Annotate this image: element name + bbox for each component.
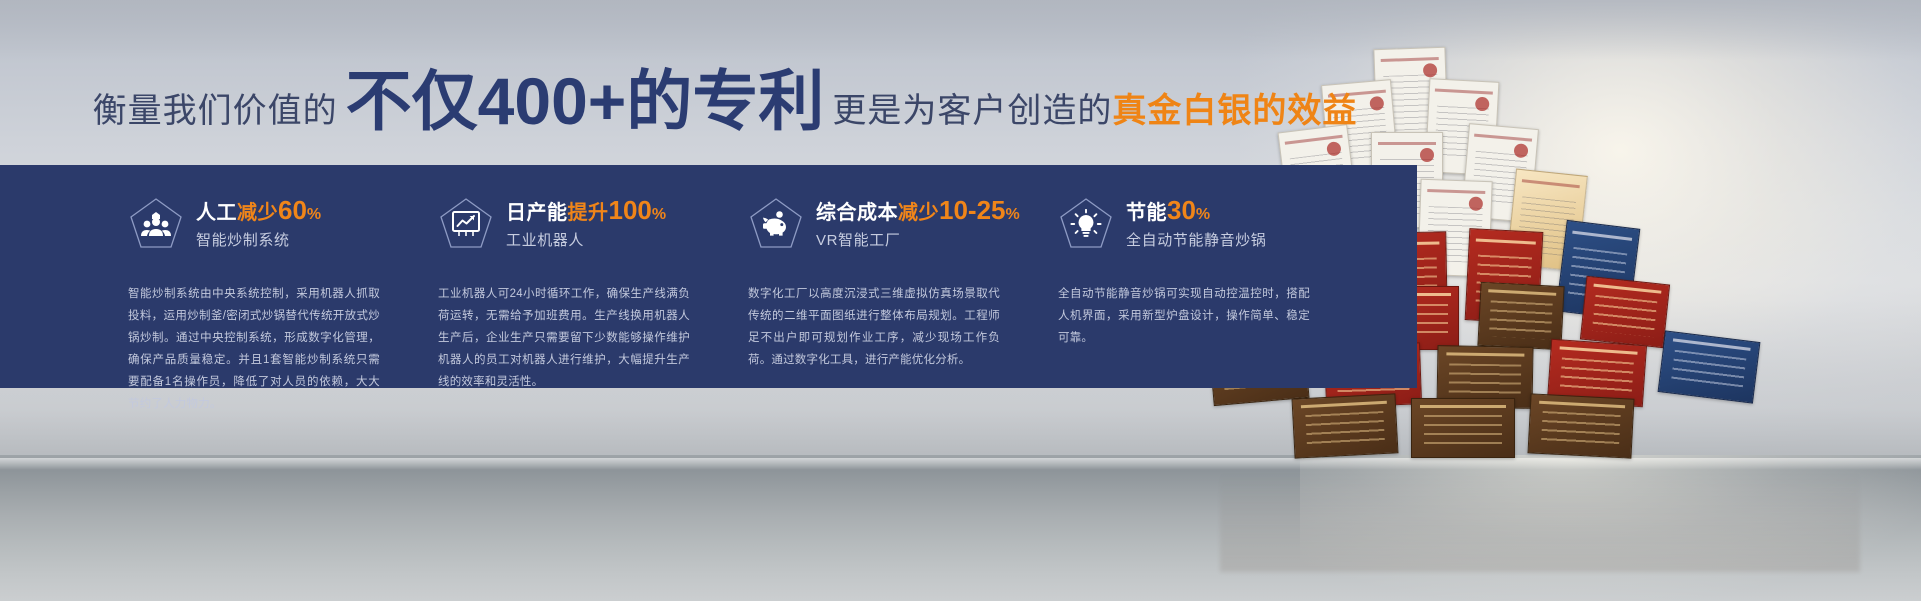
feature-title: 综合成本减少10-25% [816, 196, 1020, 225]
certificate-item [1580, 276, 1670, 348]
feature-title-highlight: 提升 [568, 202, 609, 224]
feature-title-highlight: 减少 [898, 202, 939, 224]
seal-icon [1468, 196, 1482, 210]
feature-title: 日产能提升100% [506, 196, 666, 225]
feature-body-text: 数字化工厂以高度沉浸式三维虚拟仿真场景取代传统的二维平面图纸进行整体布局规划。工… [748, 283, 1000, 371]
certificate-item [1292, 393, 1399, 458]
feature-title-number: 60 [278, 195, 307, 225]
feature-title-number: 100 [609, 195, 652, 225]
seal-icon [1420, 148, 1434, 162]
feature-title-label: 日产能 [506, 202, 568, 224]
certificate-item [1658, 330, 1761, 403]
seal-icon [1513, 143, 1528, 158]
headline-lead: 衡量我们价值的 [93, 94, 338, 128]
feature-title-percent: % [1196, 206, 1210, 223]
headline-emphasis: 不仅400+的专利 [338, 68, 833, 134]
feature-title-label: 人工 [196, 202, 237, 224]
feature-subtitle: VR智能工厂 [816, 229, 1020, 250]
feature-title-number: 30 [1167, 195, 1196, 225]
feature-title-percent: % [1006, 206, 1020, 223]
certificates-reflection [1220, 452, 1860, 572]
page-headline: 衡量我们价值的 不仅400+的专利 更是为客户创造的 真金白银的效益 [0, 68, 1450, 144]
chart-board-icon [438, 196, 494, 252]
headline-middle: 更是为客户创造的 [832, 94, 1112, 128]
people-group-icon [128, 196, 184, 252]
feature-body-text: 智能炒制系统由中央系统控制，采用机器人抓取投料，运用炒制釜/密闭式炒锅替代传统开… [128, 283, 380, 415]
feature-subtitle: 工业机器人 [506, 229, 666, 250]
piggy-bank-icon [748, 196, 804, 252]
feature-subtitle: 全自动节能静音炒锅 [1126, 229, 1266, 250]
features-panel: 人工减少60% 智能炒制系统 智能炒制系统由中央系统控制，采用机器人抓取投料，运… [0, 165, 1417, 388]
headline-highlight: 真金白银的效益 [1112, 94, 1357, 128]
feature-title-highlight: 减少 [237, 202, 278, 224]
feature-title-percent: % [652, 206, 666, 223]
certificate-item [1411, 398, 1515, 458]
feature-card-capacity: 日产能提升100% 工业机器人 工业机器人可24小时循环工作，确保生产线满负荷运… [438, 165, 748, 388]
feature-title-percent: % [307, 206, 321, 223]
lightbulb-icon [1058, 196, 1114, 252]
feature-title: 节能30% [1126, 196, 1266, 225]
feature-title: 人工减少60% [196, 196, 321, 225]
feature-card-cost: 综合成本减少10-25% VR智能工厂 数字化工厂以高度沉浸式三维虚拟仿真场景取… [748, 165, 1058, 388]
feature-title-label: 综合成本 [816, 202, 898, 224]
feature-body-text: 全自动节能静音炒锅可实现自动控温控时，搭配人机界面，采用新型炉盘设计，操作简单、… [1058, 283, 1310, 349]
seal-icon [1475, 96, 1490, 111]
feature-subtitle: 智能炒制系统 [196, 229, 321, 250]
feature-title-number: 10-25 [939, 195, 1006, 225]
feature-card-energy: 节能30% 全自动节能静音炒锅 全自动节能静音炒锅可实现自动控温控时，搭配人机界… [1058, 165, 1368, 388]
feature-title-label: 节能 [1126, 202, 1167, 224]
feature-body-text: 工业机器人可24小时循环工作，确保生产线满负荷运转，无需给予加班费用。生产线换用… [438, 283, 690, 393]
certificate-item [1528, 393, 1635, 458]
feature-card-labor: 人工减少60% 智能炒制系统 智能炒制系统由中央系统控制，采用机器人抓取投料，运… [128, 165, 438, 388]
